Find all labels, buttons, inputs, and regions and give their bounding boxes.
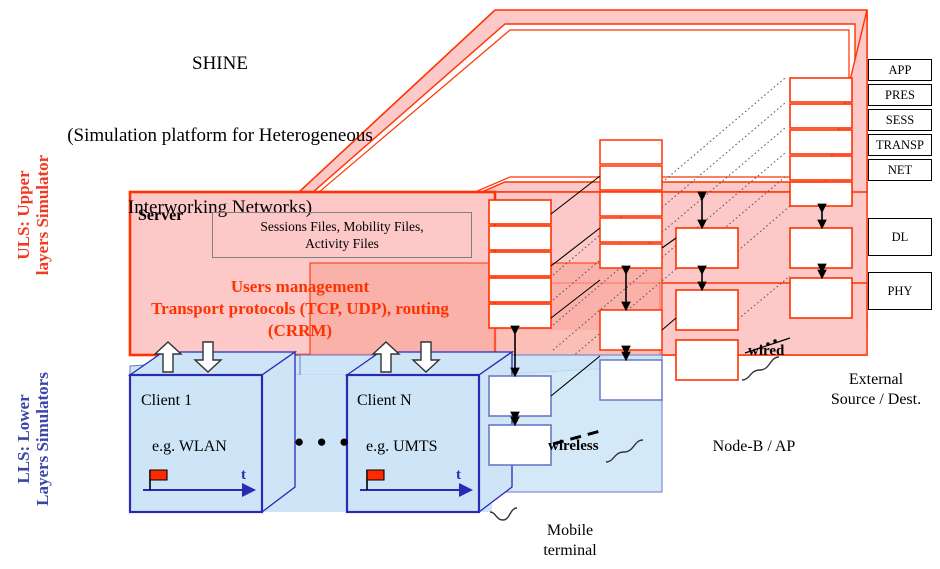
group-label-nodeb: Node-B / AP — [694, 437, 814, 457]
layer-box-phy: PHY — [868, 272, 932, 310]
layer-box-app: APP — [868, 59, 932, 81]
title-line-2: (Simulation platform for Heterogeneous — [0, 124, 440, 148]
client-n-title: Client N — [357, 392, 412, 410]
flag-icon-client1 — [150, 470, 167, 480]
layer-box-sess: SESS — [868, 109, 932, 131]
flag-icon-clientN — [367, 470, 384, 480]
group-label-external: External Source / Dest. — [812, 370, 940, 410]
layer-box-transp: TRANSP — [868, 134, 932, 156]
diagram-canvas: SHINE (Simulation platform for Heterogen… — [0, 0, 940, 569]
layer-box-net: NET — [868, 159, 932, 181]
group-label-mobile-terminal: Mobile terminal — [515, 521, 625, 561]
layer-box-pres: PRES — [868, 84, 932, 106]
client-1-title: Client 1 — [141, 392, 192, 410]
client-1-time-label: t — [241, 467, 246, 484]
layer-box-dl: DL — [868, 218, 932, 256]
title-line-1: SHINE — [0, 52, 440, 76]
stack-column-external — [790, 78, 852, 318]
client-n-time-label: t — [456, 467, 461, 484]
client-1-tech: e.g. WLAN — [152, 438, 227, 456]
brace-external — [742, 357, 779, 380]
lls-slab — [130, 352, 662, 512]
side-label-lls: LLS: Lower Layers Simulators — [14, 359, 52, 519]
annotation-wireless: wireless — [548, 438, 599, 455]
brace-mobile-terminal — [490, 508, 517, 520]
side-label-uls: ULS: Upper layers Simulator — [14, 135, 52, 295]
server-label: Server — [138, 207, 183, 225]
client-n-tech: e.g. UMTS — [366, 438, 438, 456]
annotation-wired: wired — [748, 343, 784, 360]
server-files-box: Sessions Files, Mobility Files, Activity… — [212, 212, 472, 258]
clients-ellipsis: ● ● ● — [294, 432, 353, 452]
server-functions: Users management Transport protocols (TC… — [135, 276, 465, 342]
